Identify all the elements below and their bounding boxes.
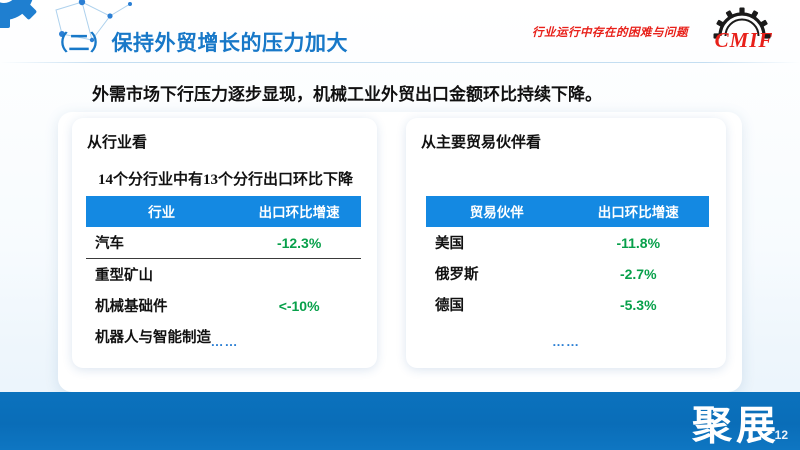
table-row: 俄罗斯 -2.7% bbox=[426, 258, 709, 289]
card-left-title: 从行业看 bbox=[87, 131, 147, 152]
cell-industry-value bbox=[237, 259, 361, 291]
cell-industry-name: 汽车 bbox=[86, 227, 237, 259]
cell-industry-value: -12.3% bbox=[237, 227, 361, 259]
table-row: 德国 -5.3% bbox=[426, 289, 709, 320]
card-left-ellipsis: …… bbox=[72, 334, 377, 349]
card-right-ellipsis: …… bbox=[406, 334, 726, 349]
table-row: 重型矿山 bbox=[86, 259, 361, 291]
cell-partner-name: 美国 bbox=[426, 227, 568, 258]
cmif-logo-text: CMIF bbox=[694, 30, 794, 51]
cell-industry-value: <-10% bbox=[237, 290, 361, 321]
cell-partner-value: -5.3% bbox=[568, 289, 710, 320]
cell-industry-name: 重型矿山 bbox=[86, 259, 237, 291]
slide-root: 行业运行中存在的困难与问题 CMIF （二）保持外贸增长的压力加大 外需市场 bbox=[0, 0, 800, 450]
table-header-row: 贸易伙伴 出口环比增速 bbox=[426, 196, 709, 227]
card-right-title: 从主要贸易伙伴看 bbox=[421, 131, 541, 152]
column-header-partner: 贸易伙伴 bbox=[426, 196, 568, 227]
card-left-note: 14个分行业中有13个分行出口环比下降 bbox=[98, 168, 353, 189]
cell-partner-name: 俄罗斯 bbox=[426, 258, 568, 289]
industry-table: 行业 出口环比增速 汽车 -12.3% 重型矿山 机械基础件 <-10% bbox=[86, 196, 361, 352]
title-divider bbox=[0, 62, 800, 63]
watermark-logo: 聚展 bbox=[692, 406, 780, 446]
trade-partner-table: 贸易伙伴 出口环比增速 美国 -11.8% 俄罗斯 -2.7% 德国 -5.3% bbox=[426, 196, 709, 320]
page-title: （二）保持外贸增长的压力加大 bbox=[47, 27, 348, 57]
card-by-industry: 从行业看 14个分行业中有13个分行出口环比下降 行业 出口环比增速 汽车 -1… bbox=[72, 118, 377, 368]
table-row: 机械基础件 <-10% bbox=[86, 290, 361, 321]
subtitle-text: 外需市场下行压力逐步显现，机械工业外贸出口金额环比持续下降。 bbox=[92, 80, 602, 105]
column-header-industry: 行业 bbox=[86, 196, 237, 227]
table-row: 美国 -11.8% bbox=[426, 227, 709, 258]
table-row: 汽车 -12.3% bbox=[86, 227, 361, 259]
cmif-logo: CMIF bbox=[692, 6, 792, 52]
column-header-growth: 出口环比增速 bbox=[237, 196, 361, 227]
cell-partner-name: 德国 bbox=[426, 289, 568, 320]
column-header-growth: 出口环比增速 bbox=[568, 196, 710, 227]
cell-industry-name: 机械基础件 bbox=[86, 290, 237, 321]
table-header-row: 行业 出口环比增速 bbox=[86, 196, 361, 227]
footer-band: 聚展 12 bbox=[0, 392, 800, 450]
card-by-trade-partner: 从主要贸易伙伴看 贸易伙伴 出口环比增速 美国 -11.8% 俄罗斯 -2.7% bbox=[406, 118, 726, 368]
page-number: 12 bbox=[775, 428, 788, 442]
cell-partner-value: -2.7% bbox=[568, 258, 710, 289]
section-label: 行业运行中存在的困难与问题 bbox=[532, 24, 688, 40]
cell-partner-value: -11.8% bbox=[568, 227, 710, 258]
